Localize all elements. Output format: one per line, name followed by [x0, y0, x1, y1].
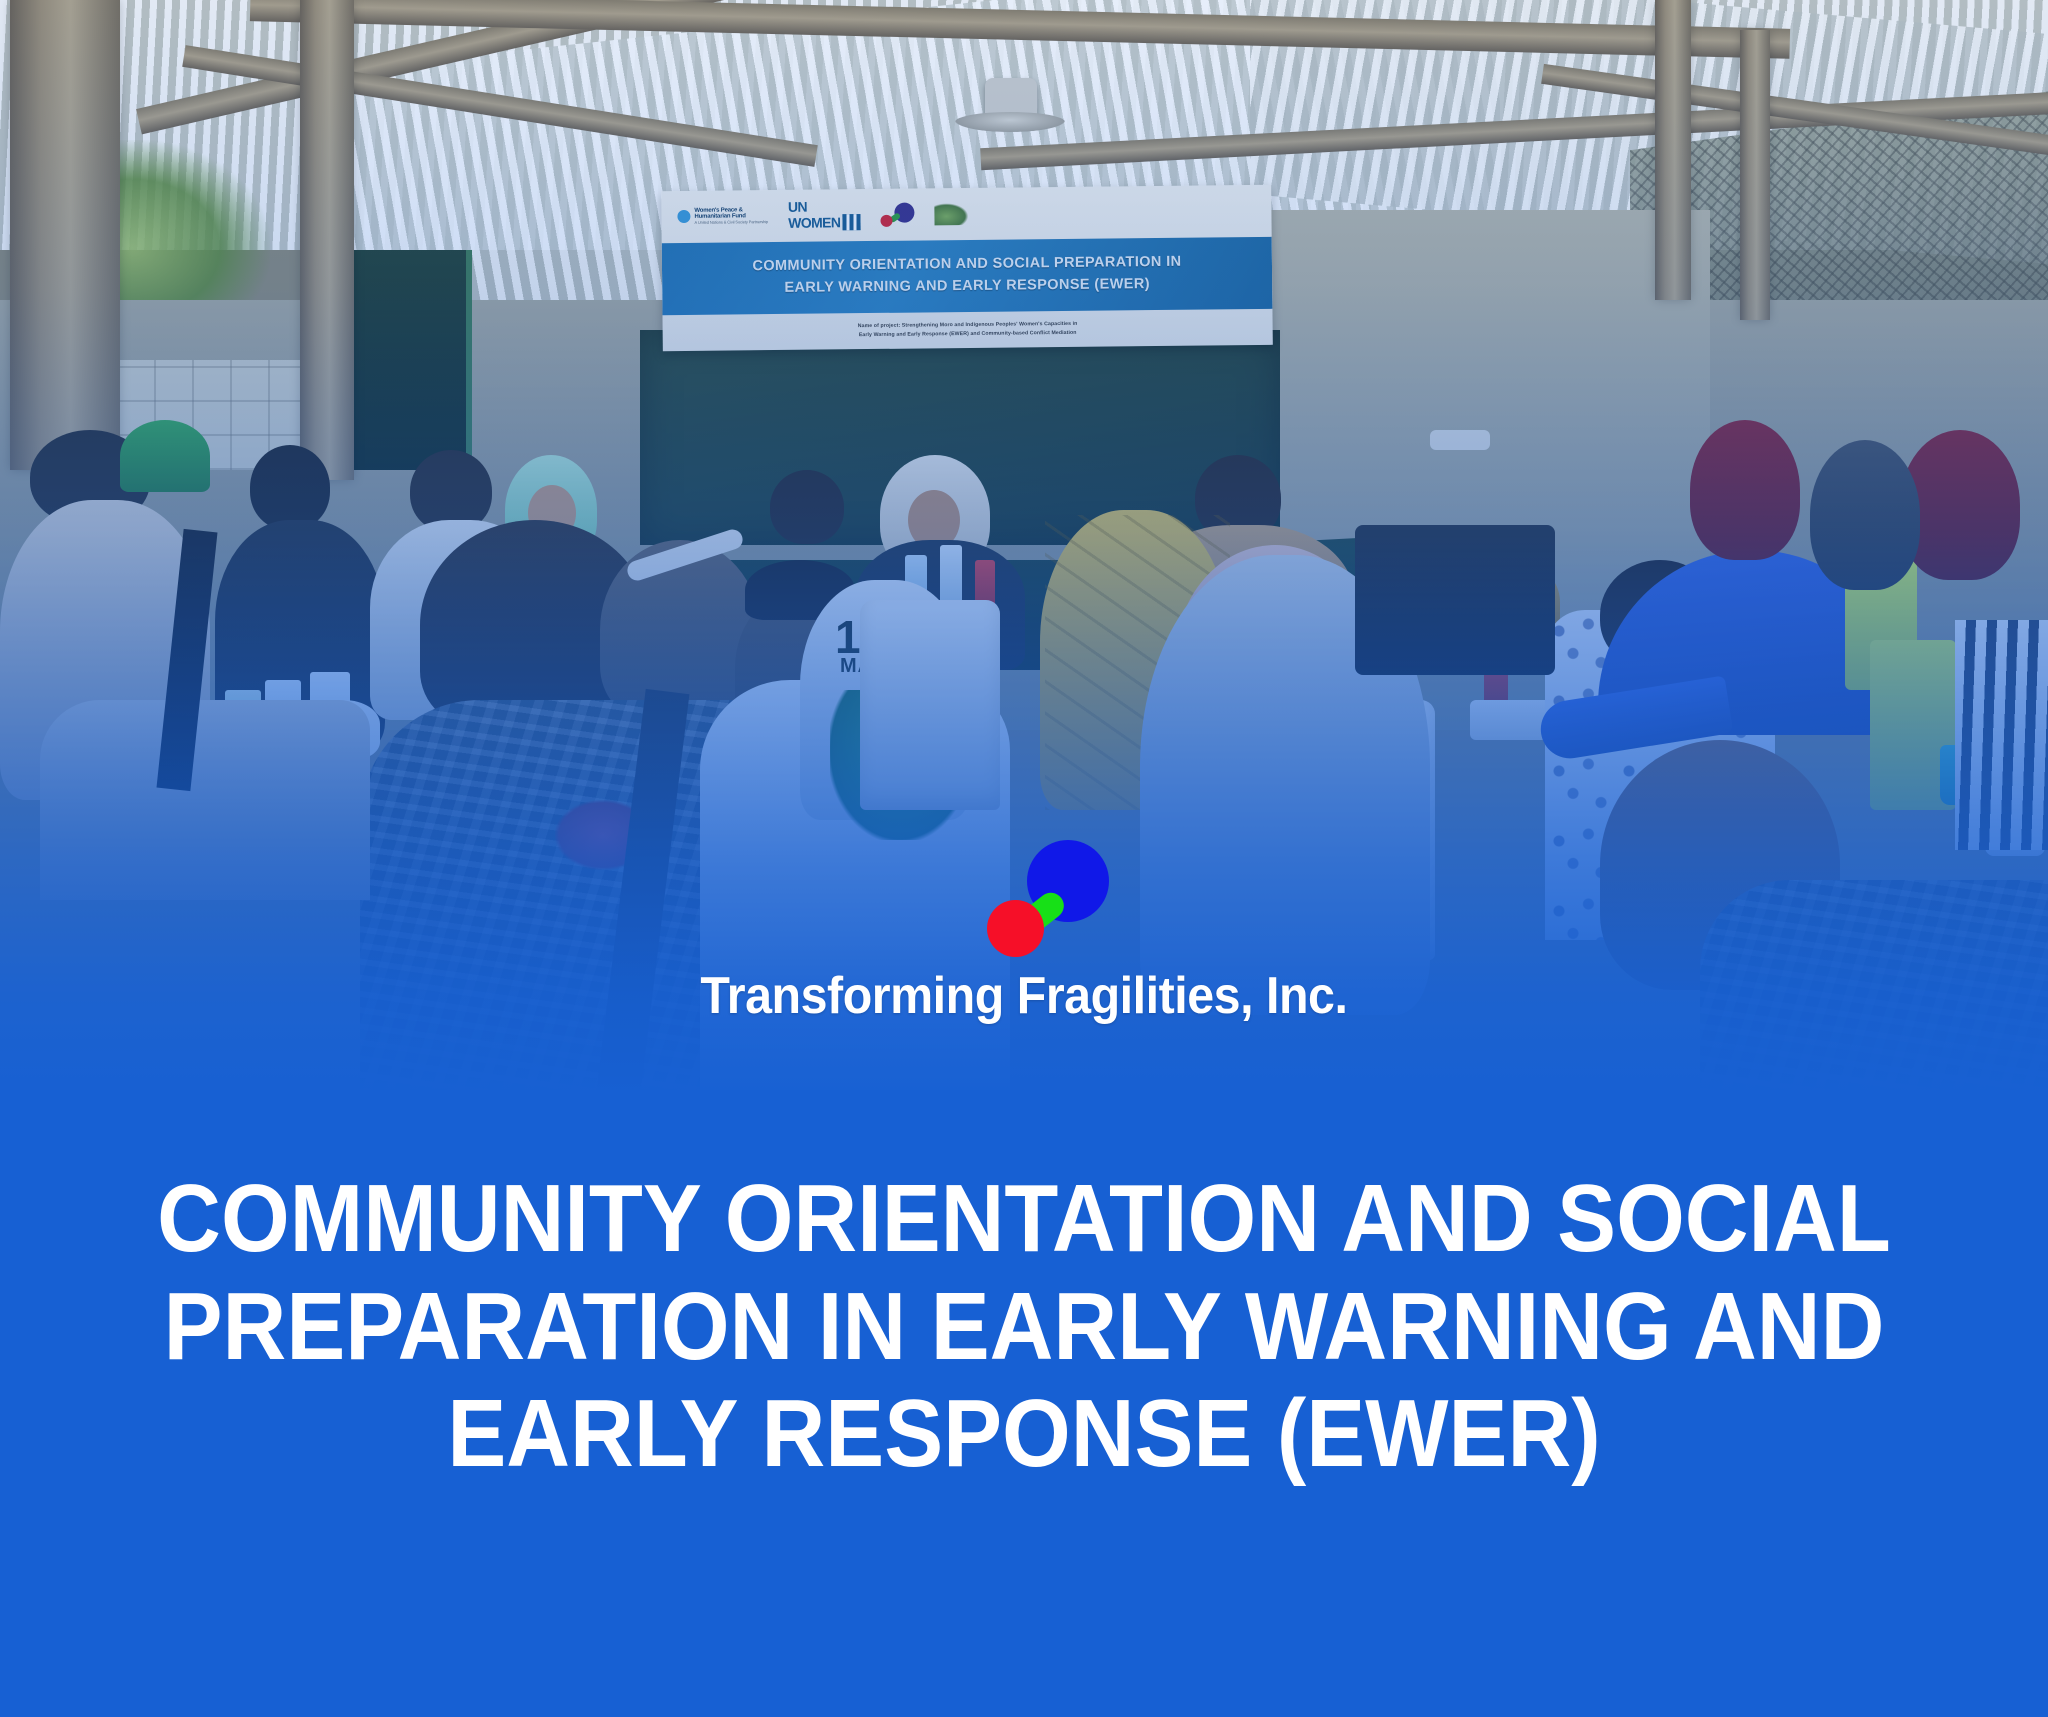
green-doorway [352, 250, 472, 470]
un-women-line1: UN [788, 199, 807, 215]
equipment-box [1355, 525, 1555, 675]
plastic-chair [860, 600, 1000, 810]
transforming-fragilities-logo [981, 840, 1111, 960]
banner-logo-row: Women's Peace & Humanitarian Fund A Unit… [661, 185, 1272, 243]
wooden-post [300, 0, 354, 480]
brand-block: Transforming Fragilities, Inc. [0, 840, 2048, 1026]
paper-sheet [1430, 430, 1490, 450]
ceiling-fan-blade [955, 112, 1065, 132]
un-women-logo: UN WOMEN [788, 200, 861, 230]
wooden-post [1655, 0, 1691, 300]
participant-hijab-dark [1810, 440, 1920, 590]
event-banner: Women's Peace & Humanitarian Fund A Unit… [661, 185, 1273, 351]
wphf-logo-text: Women's Peace & Humanitarian Fund A Unit… [694, 207, 768, 227]
wphf-logo: Women's Peace & Humanitarian Fund A Unit… [677, 207, 768, 227]
participant-green-cap [120, 420, 210, 492]
page-title: Community Orientation and Social Prepara… [137, 1165, 1911, 1488]
participant-head [770, 470, 844, 544]
un-women-line2: WOMEN [788, 214, 840, 231]
wooden-post [10, 0, 120, 470]
wooden-post [1740, 30, 1770, 320]
participant-head [250, 445, 330, 530]
un-women-bars-icon [842, 214, 860, 230]
page-title-line2: Preparation in Early Warning and [137, 1273, 1911, 1381]
participant-hijab-maroon [1690, 420, 1800, 560]
partner-leaf-logo [934, 203, 968, 225]
banner-footnote-line2: Early Warning and Early Response (EWER) … [859, 329, 1077, 340]
page-title-line1: Community Orientation and Social [137, 1165, 1911, 1273]
promo-card: Women's Peace & Humanitarian Fund A Unit… [0, 0, 2048, 1717]
organization-name: Transforming Fragilities, Inc. [700, 966, 1347, 1026]
wphf-tagline: A United Nations & Civil Society Partner… [694, 219, 768, 225]
logo-red-circle [880, 215, 892, 227]
banner-footnote: Name of project: Strengthening Moro and … [662, 309, 1272, 351]
un-emblem-icon [677, 210, 690, 223]
banner-headline-line2: EARLY WARNING AND EARLY RESPONSE (EWER) [784, 274, 1150, 300]
logo-red-circle [987, 900, 1044, 957]
participant-striped-shirt [1955, 620, 2048, 850]
transforming-fragilities-logo-small [880, 203, 914, 227]
banner-headline: COMMUNITY ORIENTATION AND SOCIAL PREPARA… [662, 237, 1273, 315]
page-title-line3: Early Response (EWER) [137, 1380, 1911, 1488]
